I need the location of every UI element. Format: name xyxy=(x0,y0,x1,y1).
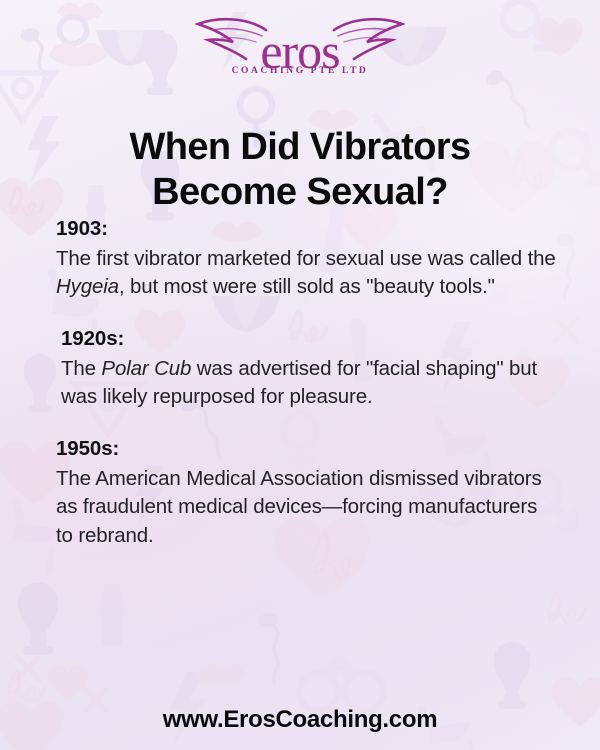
timeline-entry: 1903: The first vibrator marketed for se… xyxy=(56,215,556,301)
entry-year-label: 1920s: xyxy=(61,325,556,353)
logo-tagline: COACHING PTE LTD xyxy=(0,66,600,76)
poster-canvas: eros COACHING PTE LTD When Did Vibrators… xyxy=(0,0,600,750)
brand-logo: eros COACHING PTE LTD xyxy=(0,4,600,90)
entry-body-part1: The xyxy=(61,357,101,380)
poster-content: eros COACHING PTE LTD When Did Vibrators… xyxy=(0,0,600,750)
title-line-2: Become Sexual? xyxy=(0,170,600,214)
timeline-entries: 1903: The first vibrator marketed for se… xyxy=(56,215,556,572)
timeline-entry: 1920s: The Polar Cub was advertised for … xyxy=(56,325,556,411)
entry-body-part1: The American Medical Association dismiss… xyxy=(56,467,542,547)
entry-body-emphasis: Hygeia xyxy=(56,275,119,298)
page-title: When Did Vibrators Become Sexual? xyxy=(0,125,600,213)
entry-body-text: The American Medical Association dismiss… xyxy=(56,465,556,550)
entry-year-label: 1950s: xyxy=(56,435,556,463)
entry-body-part2: , but most were still sold as "beauty to… xyxy=(119,275,495,298)
entry-body-text: The first vibrator marketed for sexual u… xyxy=(56,245,556,302)
entry-body-part1: The first vibrator marketed for sexual u… xyxy=(56,247,556,270)
entry-year-label: 1903: xyxy=(56,215,556,243)
title-line-1: When Did Vibrators xyxy=(0,125,600,169)
footer-website[interactable]: www.ErosCoaching.com xyxy=(0,706,600,734)
timeline-entry: 1950s: The American Medical Association … xyxy=(56,435,556,550)
entry-body-text: The Polar Cub was advertised for "facial… xyxy=(61,355,556,412)
entry-body-emphasis: Polar Cub xyxy=(101,357,191,380)
